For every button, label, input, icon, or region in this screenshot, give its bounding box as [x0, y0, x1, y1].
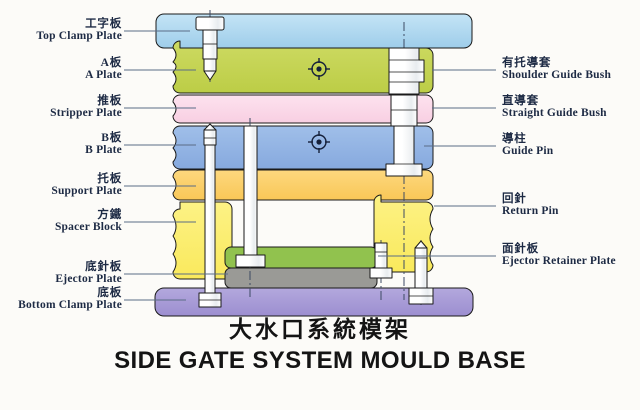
label-guide-pin-en: Guide Pin — [502, 146, 553, 158]
label-guide-pin: 導柱 Guide Pin — [502, 134, 553, 157]
label-spacer-block-en: Spacer Block — [55, 222, 122, 234]
label-ejector-plate-cn: 底針板 — [55, 262, 122, 274]
straight-guide-bush — [391, 95, 417, 126]
label-shoulder-guide-bush: 有托導套 Shoulder Guide Bush — [502, 58, 611, 81]
label-ejector-plate: 底針板 Ejector Plate — [55, 262, 122, 285]
label-bottom-clamp-plate-cn: 底板 — [18, 288, 122, 300]
label-ejector-retainer-plate: 面針板 Ejector Retainer Plate — [502, 244, 616, 267]
label-b-plate-en: B Plate — [85, 145, 122, 157]
label-a-plate: A板 A Plate — [85, 58, 122, 81]
label-stripper-plate-en: Stripper Plate — [50, 108, 122, 120]
label-return-pin: 回針 Return Pin — [502, 194, 559, 217]
label-ejector-plate-en: Ejector Plate — [55, 274, 122, 286]
label-support-plate-en: Support Plate — [51, 186, 122, 198]
label-straight-guide-bush-cn: 直導套 — [502, 96, 607, 108]
label-bottom-clamp-plate: 底板 Bottom Clamp Plate — [18, 288, 122, 311]
label-shoulder-guide-bush-cn: 有托導套 — [502, 58, 611, 70]
label-b-plate-cn: B板 — [85, 133, 122, 145]
label-top-clamp-plate-cn: 工字板 — [36, 19, 122, 31]
plate-spacer-block-left — [173, 202, 232, 279]
label-support-plate-cn: 托板 — [51, 174, 122, 186]
label-a-plate-en: A Plate — [85, 70, 122, 82]
label-spacer-block: 方鐵 Spacer Block — [55, 210, 122, 233]
label-ejector-retainer-plate-cn: 面針板 — [502, 244, 616, 256]
diagram-title: 大水口系統模架 SIDE GATE SYSTEM MOULD BASE — [0, 310, 640, 375]
title-english: SIDE GATE SYSTEM MOULD BASE — [0, 347, 640, 375]
label-ejector-retainer-plate-en: Ejector Retainer Plate — [502, 256, 616, 268]
label-top-clamp-plate: 工字板 Top Clamp Plate — [36, 19, 122, 42]
label-support-plate: 托板 Support Plate — [51, 174, 122, 197]
label-straight-guide-bush: 直導套 Straight Guide Bush — [502, 96, 607, 119]
shoulder-guide-bush — [389, 48, 424, 94]
label-spacer-block-cn: 方鐵 — [55, 210, 122, 222]
label-guide-pin-cn: 導柱 — [502, 134, 553, 146]
label-b-plate: B板 B Plate — [85, 133, 122, 156]
label-top-clamp-plate-en: Top Clamp Plate — [36, 31, 122, 43]
label-return-pin-en: Return Pin — [502, 206, 559, 218]
label-shoulder-guide-bush-en: Shoulder Guide Bush — [502, 70, 611, 82]
label-stripper-plate: 推板 Stripper Plate — [50, 96, 122, 119]
label-stripper-plate-cn: 推板 — [50, 96, 122, 108]
label-return-pin-cn: 回針 — [502, 194, 559, 206]
diagram-stage: 工字板 Top Clamp Plate A板 A Plate 推板 Stripp… — [0, 0, 640, 410]
plate-ejector-plate — [225, 268, 377, 288]
title-chinese: 大水口系統模架 — [0, 310, 640, 344]
label-straight-guide-bush-en: Straight Guide Bush — [502, 108, 607, 120]
label-a-plate-cn: A板 — [85, 58, 122, 70]
